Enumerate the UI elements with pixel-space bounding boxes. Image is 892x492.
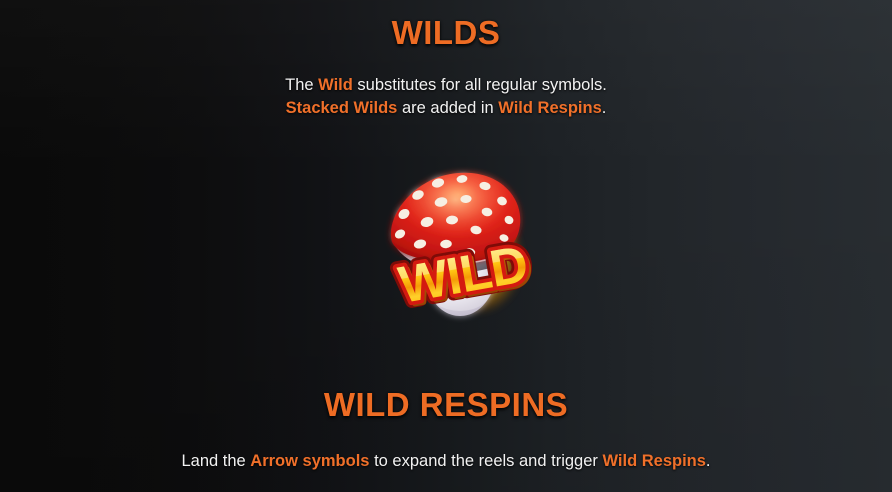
wilds-description: The Wild substitutes for all regular sym…	[0, 74, 892, 120]
section-title-wilds: WILDS	[0, 14, 892, 52]
text-run-highlight: Wild Respins	[498, 99, 601, 117]
text-run: The	[285, 76, 318, 94]
text-run: Land the	[181, 452, 250, 470]
respins-description: Land the Arrow symbols to expand the ree…	[0, 450, 892, 473]
text-run-highlight: Stacked Wilds	[286, 99, 398, 117]
text-run-highlight: Wild Respins	[602, 452, 705, 470]
text-run: substitutes for all regular symbols.	[353, 76, 607, 94]
text-run-highlight: Arrow symbols	[250, 452, 369, 470]
wilds-description-line-1: The Wild substitutes for all regular sym…	[0, 74, 892, 97]
text-run: .	[602, 99, 607, 117]
text-run: .	[706, 452, 711, 470]
text-run-highlight: Wild	[318, 76, 353, 94]
text-run: are added in	[397, 99, 498, 117]
respins-description-line-1: Land the Arrow symbols to expand the ree…	[0, 450, 892, 473]
text-run: to expand the reels and trigger	[369, 452, 602, 470]
wilds-description-line-2: Stacked Wilds are added in Wild Respins.	[0, 97, 892, 120]
paytable-page: WILDS The Wild substitutes for all regul…	[0, 0, 892, 492]
wild-mushroom-symbol: WILD WILD WILD WILD WILD	[378, 168, 553, 350]
section-title-wild-respins: WILD RESPINS	[0, 386, 892, 424]
